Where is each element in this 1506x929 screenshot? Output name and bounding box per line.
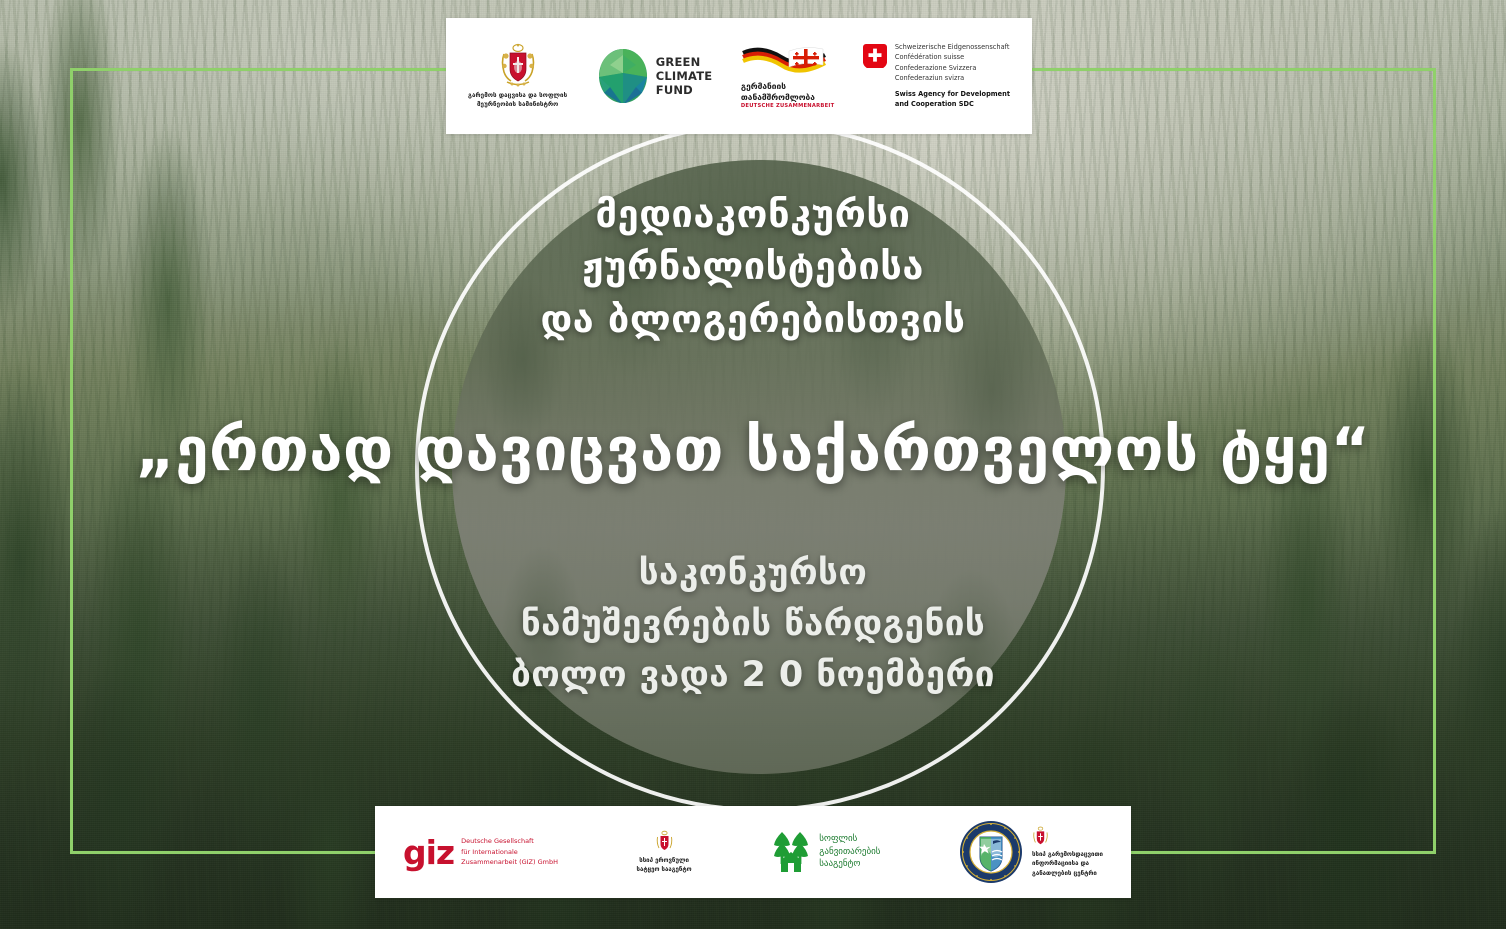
swiss-line-1: Schweizerische Eidgenossenschaft bbox=[895, 42, 1010, 52]
logo-swiss-sdc: Schweizerische Eidgenossenschaft Confédé… bbox=[863, 42, 1010, 110]
nfa-label-line-1: სსიპ ეროვნული bbox=[637, 856, 692, 865]
logo-green-climate-fund: GREEN CLIMATE FUND bbox=[596, 47, 713, 105]
eiec-label-line-2: ინფორმაციისა და bbox=[1032, 859, 1103, 868]
swiss-bold-line-1: Swiss Agency for Development bbox=[895, 90, 1010, 100]
gcf-label-line-3: FUND bbox=[656, 83, 713, 97]
forestry-agency-label: სსიპ ეროვნული სატყეო სააგენტო bbox=[637, 856, 692, 874]
eiec-label-line-1: სსიპ გარემოსდაცვითი bbox=[1032, 850, 1103, 859]
eiec-label-group: სსიპ გარემოსდაცვითი ინფორმაციისა და განა… bbox=[1032, 826, 1103, 878]
german-cooperation-ka-label: გერმანიის თანამშრომლობა bbox=[741, 81, 815, 103]
logo-giz: giz Deutsche Gesellschaft für Internatio… bbox=[403, 836, 558, 869]
rda-label-line-1: სოფლის bbox=[819, 833, 880, 846]
bottom-logo-bar: giz Deutsche Gesellschaft für Internatio… bbox=[375, 806, 1131, 898]
swiss-cross-icon bbox=[863, 44, 887, 68]
swiss-bold-line-2: and Cooperation SDC bbox=[895, 100, 1010, 110]
gcf-label-line-2: CLIMATE bbox=[656, 69, 713, 83]
german-ka-line-2: თანამშრომლობა bbox=[741, 92, 815, 103]
giz-wordmark: giz bbox=[403, 836, 454, 869]
two-trees-house-icon bbox=[770, 830, 812, 874]
swiss-line-4: Confederaziun svizra bbox=[895, 73, 1010, 83]
swiss-line-3: Confederazione Svizzera bbox=[895, 63, 1010, 73]
logo-german-cooperation: გერმანიის თანამშრომლობა DEUTSCHE ZUSAMME… bbox=[741, 43, 835, 110]
swiss-agency-lines: Swiss Agency for Development and Coopera… bbox=[895, 90, 1010, 110]
nfa-label-line-2: სატყეო სააგენტო bbox=[637, 865, 692, 874]
giz-label: Deutsche Gesellschaft für Internationale… bbox=[461, 836, 558, 868]
logo-national-forestry-agency: სსიპ ეროვნული სატყეო სააგენტო bbox=[637, 830, 692, 874]
ministry-label-line-1: გარემოს დაცვისა და სოფლის bbox=[468, 92, 567, 101]
logo-environmental-information-center: სსიპ გარემოსდაცვითი ინფორმაციისა და განა… bbox=[959, 820, 1103, 884]
decorative-white-ring bbox=[415, 122, 1105, 812]
georgia-coat-of-arms-icon bbox=[655, 830, 674, 853]
green-climate-fund-sphere-icon bbox=[596, 47, 650, 105]
swiss-line-2: Confédération suisse bbox=[895, 52, 1010, 62]
gcf-label: GREEN CLIMATE FUND bbox=[656, 55, 713, 97]
giz-label-line-3: Zusammenarbeit (GIZ) GmbH bbox=[461, 857, 558, 868]
poster-canvas: მედიაკონკურსი ჟურნალისტებისა და ბლოგერებ… bbox=[0, 0, 1506, 929]
swiss-confederation-lines: Schweizerische Eidgenossenschaft Confédé… bbox=[895, 42, 1010, 84]
ministry-label: გარემოს დაცვისა და სოფლის მეურნეობის სამ… bbox=[468, 92, 567, 110]
german-georgian-flags-icon bbox=[741, 43, 827, 79]
giz-label-line-1: Deutsche Gesellschaft bbox=[461, 836, 558, 847]
ministry-label-line-2: მეურნეობის სამინისტრო bbox=[468, 101, 567, 110]
rda-label: სოფლის განვითარების სააგენტო bbox=[819, 833, 880, 871]
rda-label-line-2: განვითარების bbox=[819, 846, 880, 859]
eiec-label: სსიპ გარემოსდაცვითი ინფორმაციისა და განა… bbox=[1032, 850, 1103, 878]
giz-label-line-2: für Internationale bbox=[461, 847, 558, 858]
german-cooperation-de-label: DEUTSCHE ZUSAMMENARBEIT bbox=[741, 103, 835, 109]
ministry-round-seal-icon bbox=[959, 820, 1023, 884]
top-logo-bar: გარემოს დაცვისა და სოფლის მეურნეობის სამ… bbox=[446, 18, 1032, 134]
georgia-coat-of-arms-icon bbox=[498, 42, 538, 88]
rda-label-line-3: სააგენტო bbox=[819, 858, 880, 871]
gcf-label-line-1: GREEN bbox=[656, 55, 713, 69]
eiec-label-line-3: განათლების ცენტრი bbox=[1032, 869, 1103, 878]
georgia-coat-of-arms-icon bbox=[1032, 826, 1049, 847]
logo-ministry-of-environment: გარემოს დაცვისა და სოფლის მეურნეობის სამ… bbox=[468, 42, 567, 110]
german-ka-line-1: გერმანიის bbox=[741, 81, 815, 92]
logo-rural-development-agency: სოფლის განვითარების სააგენტო bbox=[770, 830, 880, 874]
swiss-label-group: Schweizerische Eidgenossenschaft Confédé… bbox=[895, 42, 1010, 110]
